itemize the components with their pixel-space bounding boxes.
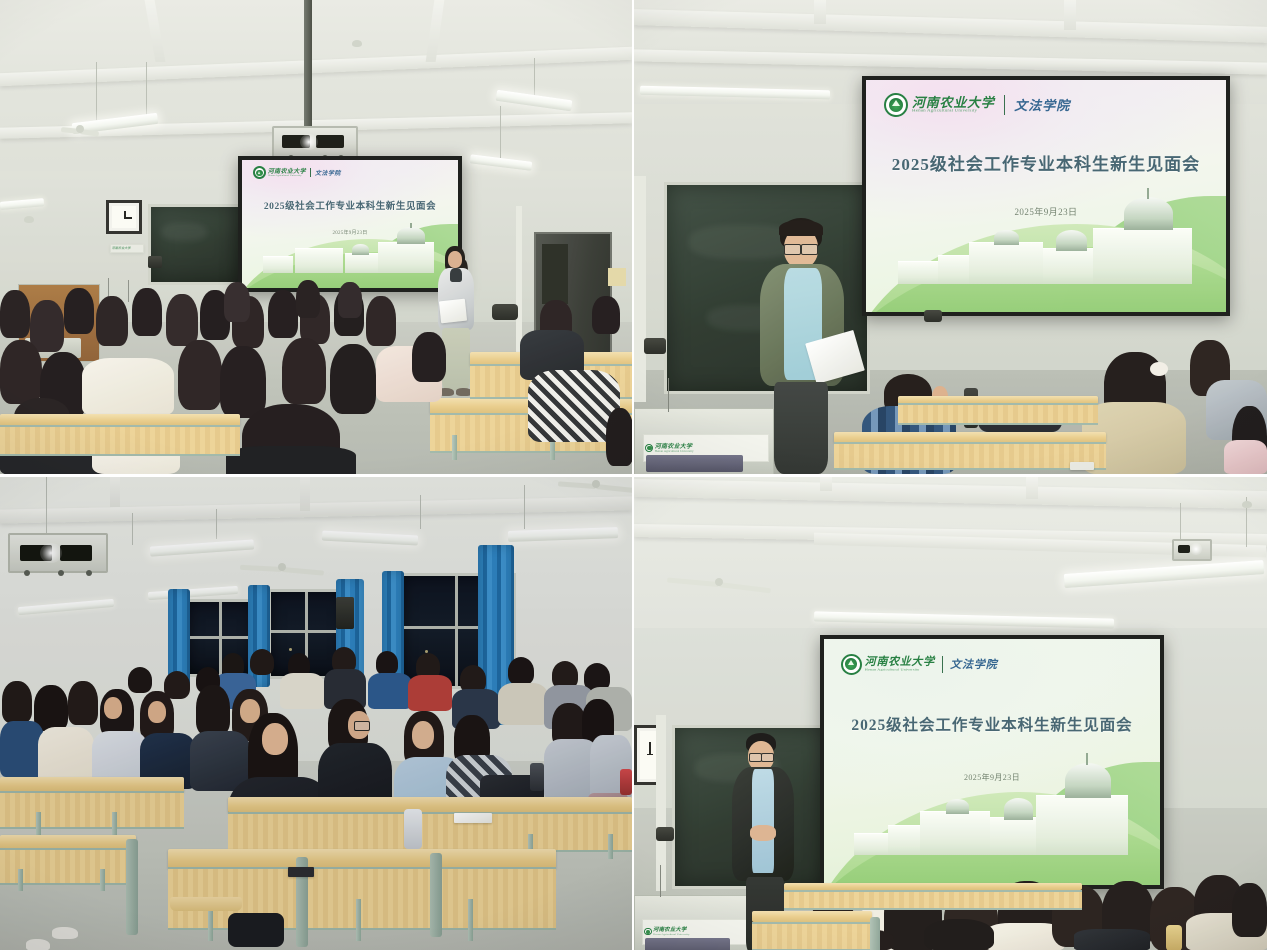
light-rod — [146, 62, 147, 120]
phone-on-desk — [1070, 462, 1094, 470]
ceiling-beam — [110, 477, 120, 507]
ceiling-projector — [1172, 539, 1212, 561]
projector-rod — [46, 477, 47, 535]
hair-tie — [1150, 362, 1168, 376]
seat-frame — [430, 853, 442, 937]
university-emblem-icon — [841, 654, 862, 675]
slide-title: 2025级社会工作专业本科生新生见面会 — [866, 150, 1226, 175]
university-emblem-icon — [884, 93, 908, 117]
ceiling-beam — [1064, 0, 1076, 30]
bench-desk — [784, 883, 1082, 911]
ceiling-projector — [8, 533, 108, 573]
light-rod — [524, 485, 525, 529]
microphone-stand — [668, 378, 669, 412]
collage-panel-bottom-left — [0, 477, 632, 950]
ceiling-beam — [300, 477, 310, 511]
bench-desk — [834, 432, 1106, 474]
ceiling-fan-icon — [60, 122, 100, 136]
bench-desk — [168, 849, 556, 941]
bench-desk — [752, 911, 872, 950]
slide-logo: 河南农业大学 Henan Agricultural University 文法学… — [884, 93, 1070, 117]
presentation-slide: 河南农业大学 Henan Agricultural University 文法学… — [242, 160, 458, 288]
light-rod — [420, 495, 421, 529]
bench-desk — [898, 396, 1098, 426]
window — [186, 599, 256, 677]
seat-frame — [870, 917, 880, 950]
slide-date: 2025年9月23日 — [866, 205, 1226, 218]
classroom-scene-suited-teacher: 河南农业大学 Henan Agricultural University 文法学… — [634, 477, 1267, 950]
projection-screen: 河南农业大学 Henan Agricultural University 文法学… — [862, 76, 1230, 316]
seat — [170, 897, 242, 911]
wall-speaker — [336, 597, 354, 629]
presentation-slide: 河南农业大学 Henan Agricultural University 文法学… — [824, 639, 1160, 885]
seat-frame — [126, 839, 138, 935]
slide-date: 2025年9月23日 — [824, 772, 1160, 783]
collage-panel-top-right: 河南农业大学 Henan Agricultural University 文法学… — [634, 0, 1267, 474]
light-rod — [534, 58, 535, 98]
wall-panel — [608, 268, 626, 286]
wall-edge — [634, 176, 646, 402]
ceiling-sensor-icon — [1242, 501, 1252, 508]
wall-speaker — [656, 827, 674, 841]
bench-desk — [0, 835, 136, 891]
photo-collage: 河南农业大学 — [0, 0, 1267, 950]
slide-title: 2025级社会工作专业本科生新生见面会 — [242, 198, 458, 212]
classroom-scene-audience — [0, 477, 632, 950]
collage-panel-bottom-right: 河南农业大学 Henan Agricultural University 文法学… — [634, 477, 1267, 950]
wall-clock — [106, 200, 142, 234]
eyeglasses-icon — [801, 244, 818, 255]
wall-speaker — [644, 338, 666, 354]
light-rod — [96, 62, 97, 120]
water-bottle — [620, 769, 632, 795]
bag-on-floor — [228, 913, 284, 947]
slide-logo: 河南农业大学 Henan Agricultural University 文法学… — [841, 654, 998, 675]
wall-speaker — [924, 310, 942, 322]
ceiling-projector — [272, 126, 358, 158]
ceiling-sensor-icon — [352, 40, 362, 47]
bench-desk — [0, 414, 240, 460]
ceiling-beam — [820, 477, 832, 491]
light-rod — [132, 513, 133, 545]
eyeglasses-icon — [784, 244, 801, 255]
lectern: 河南农业大学 Henan Agricultural University — [634, 408, 774, 474]
ceiling-fan-icon — [556, 477, 632, 491]
classroom-scene-wide: 河南农业大学 — [0, 0, 632, 474]
water-bottle — [404, 809, 422, 849]
ceiling-beam — [1026, 477, 1038, 499]
projection-screen: 河南农业大学 Henan Agricultural University 文法学… — [820, 635, 1164, 889]
notes-on-desk — [454, 813, 492, 823]
university-emblem-icon — [644, 928, 651, 935]
light-rod — [500, 106, 501, 158]
collage-panel-top-left: 河南农业大学 — [0, 0, 632, 474]
university-emblem-icon — [645, 444, 653, 452]
presentation-slide: 河南农业大学 Henan Agricultural University 文法学… — [866, 80, 1226, 312]
eyeglasses-icon — [761, 753, 774, 762]
university-emblem-icon — [253, 166, 266, 179]
slide-title: 2025级社会工作专业本科生新生见面会 — [824, 713, 1160, 735]
water-bottle — [1166, 925, 1182, 950]
wall-speaker — [148, 256, 162, 268]
microphone-stand — [660, 865, 661, 897]
ceiling-sensor-icon — [24, 216, 34, 223]
bag — [492, 304, 518, 320]
shoe — [26, 939, 50, 950]
projector-pole — [304, 0, 312, 128]
blackboard — [148, 204, 241, 285]
ceiling-beam — [814, 0, 826, 24]
eyeglasses-icon — [354, 721, 370, 731]
slide-date: 2025年9月23日 — [242, 229, 458, 236]
phone-on-desk — [288, 867, 314, 877]
wall-plaque: 河南农业大学 — [110, 244, 144, 253]
projection-screen: 河南农业大学 Henan Agricultural University 文法学… — [238, 156, 462, 292]
ceiling-fan-icon — [664, 573, 774, 591]
water-bottle — [530, 763, 544, 791]
wall-edge — [656, 715, 666, 891]
light-rod — [216, 509, 217, 539]
microphone-stand — [128, 280, 129, 302]
bench-desk — [0, 777, 184, 835]
ceiling-fan-icon — [238, 559, 326, 575]
printed-notes — [439, 299, 467, 324]
classroom-scene-teacher: 河南农业大学 Henan Agricultural University 文法学… — [634, 0, 1267, 474]
shoe — [52, 927, 78, 939]
slide-logo: 河南农业大学 Henan Agricultural University 文法学… — [253, 166, 341, 179]
